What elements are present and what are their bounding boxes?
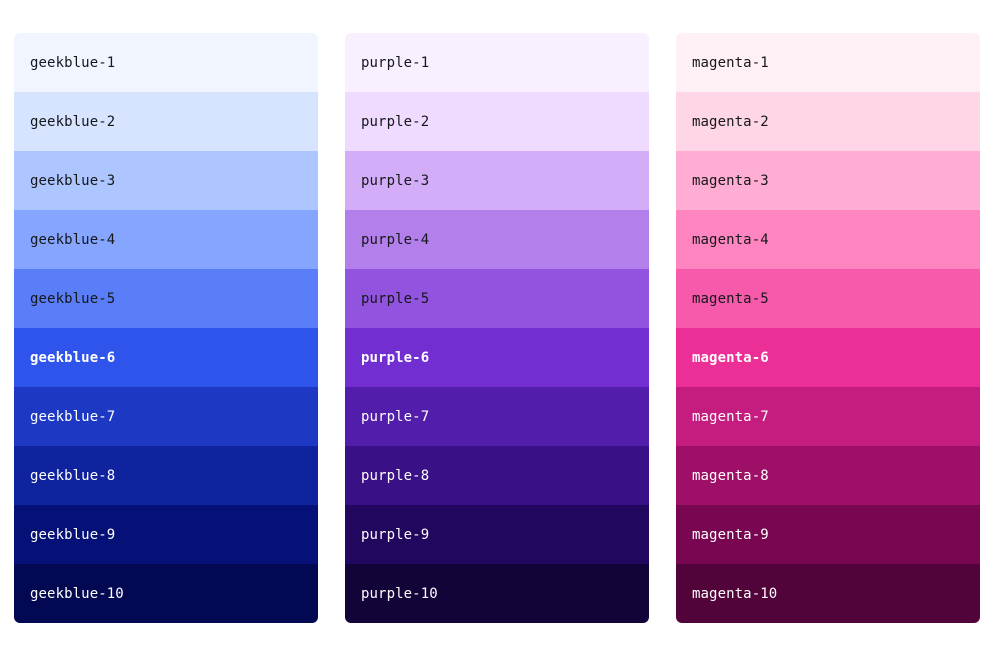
color-swatch[interactable]: magenta-3 xyxy=(676,151,980,210)
color-swatch-label: purple-2 xyxy=(361,115,429,129)
color-swatch-label: geekblue-9 xyxy=(30,528,115,542)
color-swatch[interactable]: purple-5 xyxy=(345,269,649,328)
color-swatch-label: geekblue-10 xyxy=(30,587,124,601)
color-swatch[interactable]: geekblue-2 xyxy=(14,92,318,151)
color-swatch[interactable]: purple-7 xyxy=(345,387,649,446)
color-swatch-label: magenta-2 xyxy=(692,115,769,129)
color-swatch[interactable]: geekblue-10 xyxy=(14,564,318,623)
color-swatch[interactable]: geekblue-4 xyxy=(14,210,318,269)
color-swatch-label: magenta-9 xyxy=(692,528,769,542)
color-swatch[interactable]: magenta-7 xyxy=(676,387,980,446)
color-swatch[interactable]: magenta-1 xyxy=(676,33,980,92)
color-swatch-label: magenta-1 xyxy=(692,56,769,70)
color-swatch[interactable]: magenta-2 xyxy=(676,92,980,151)
color-swatch-label: geekblue-7 xyxy=(30,410,115,424)
color-swatch-label: magenta-6 xyxy=(692,351,769,365)
color-swatch[interactable]: purple-10 xyxy=(345,564,649,623)
color-swatch-label: purple-7 xyxy=(361,410,429,424)
color-swatch[interactable]: purple-8 xyxy=(345,446,649,505)
palette-column-magenta: magenta-1magenta-2magenta-3magenta-4mage… xyxy=(676,33,980,623)
color-swatch[interactable]: purple-4 xyxy=(345,210,649,269)
color-swatch[interactable]: magenta-5 xyxy=(676,269,980,328)
color-swatch-label: magenta-7 xyxy=(692,410,769,424)
color-swatch-label: purple-8 xyxy=(361,469,429,483)
color-swatch-label: purple-1 xyxy=(361,56,429,70)
color-swatch-label: purple-6 xyxy=(361,351,429,365)
color-swatch[interactable]: purple-2 xyxy=(345,92,649,151)
color-swatch-label: geekblue-8 xyxy=(30,469,115,483)
color-swatch[interactable]: magenta-6 xyxy=(676,328,980,387)
color-swatch-label: geekblue-3 xyxy=(30,174,115,188)
color-swatch-label: magenta-4 xyxy=(692,233,769,247)
color-swatch-label: purple-3 xyxy=(361,174,429,188)
color-swatch[interactable]: purple-1 xyxy=(345,33,649,92)
color-swatch[interactable]: geekblue-6 xyxy=(14,328,318,387)
color-swatch[interactable]: geekblue-3 xyxy=(14,151,318,210)
color-swatch[interactable]: purple-6 xyxy=(345,328,649,387)
color-swatch-label: purple-9 xyxy=(361,528,429,542)
color-swatch[interactable]: purple-3 xyxy=(345,151,649,210)
color-swatch[interactable]: geekblue-7 xyxy=(14,387,318,446)
color-swatch-label: purple-5 xyxy=(361,292,429,306)
color-swatch[interactable]: geekblue-8 xyxy=(14,446,318,505)
color-swatch[interactable]: magenta-9 xyxy=(676,505,980,564)
color-palette-board: geekblue-1geekblue-2geekblue-3geekblue-4… xyxy=(0,0,1000,667)
color-swatch-label: geekblue-4 xyxy=(30,233,115,247)
color-swatch-label: magenta-10 xyxy=(692,587,777,601)
color-swatch[interactable]: magenta-8 xyxy=(676,446,980,505)
palette-column-geekblue: geekblue-1geekblue-2geekblue-3geekblue-4… xyxy=(14,33,318,623)
color-swatch[interactable]: geekblue-5 xyxy=(14,269,318,328)
color-swatch-label: magenta-3 xyxy=(692,174,769,188)
color-swatch-label: magenta-5 xyxy=(692,292,769,306)
color-swatch[interactable]: geekblue-1 xyxy=(14,33,318,92)
color-swatch-label: geekblue-5 xyxy=(30,292,115,306)
color-swatch[interactable]: geekblue-9 xyxy=(14,505,318,564)
color-swatch[interactable]: purple-9 xyxy=(345,505,649,564)
color-swatch-label: geekblue-6 xyxy=(30,351,115,365)
color-swatch-label: geekblue-2 xyxy=(30,115,115,129)
color-swatch-label: purple-4 xyxy=(361,233,429,247)
color-swatch[interactable]: magenta-4 xyxy=(676,210,980,269)
color-swatch-label: geekblue-1 xyxy=(30,56,115,70)
color-swatch[interactable]: magenta-10 xyxy=(676,564,980,623)
palette-column-purple: purple-1purple-2purple-3purple-4purple-5… xyxy=(345,33,649,623)
color-swatch-label: purple-10 xyxy=(361,587,438,601)
color-swatch-label: magenta-8 xyxy=(692,469,769,483)
